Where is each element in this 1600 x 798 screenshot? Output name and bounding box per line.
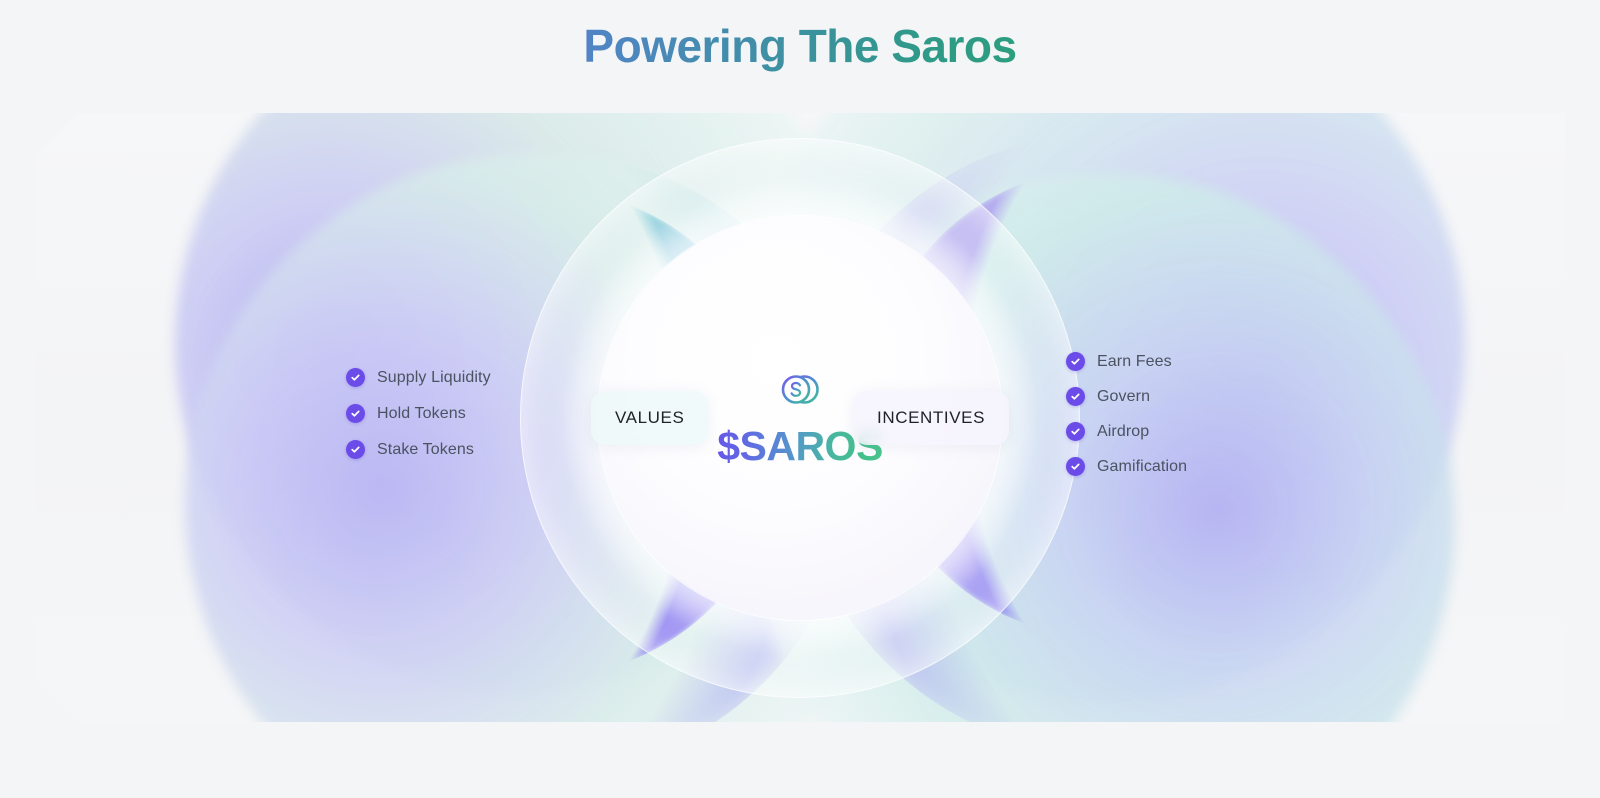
list-item-label: Stake Tokens: [377, 441, 474, 459]
diagram-panel: $SAROS VALUES INCENTIVES Supply Liquidit…: [35, 113, 1565, 722]
check-circle-icon: [1066, 457, 1085, 476]
list-item[interactable]: Airdrop: [1066, 422, 1187, 441]
list-item[interactable]: Earn Fees: [1066, 352, 1187, 371]
values-list: Supply Liquidity Hold Tokens Stake Token…: [346, 368, 491, 459]
list-item[interactable]: Gamification: [1066, 457, 1187, 476]
check-circle-icon: [346, 404, 365, 423]
check-circle-icon: [1066, 352, 1085, 371]
check-circle-icon: [346, 368, 365, 387]
incentives-badge[interactable]: INCENTIVES: [853, 391, 1009, 445]
coin-dollar-icon: [776, 366, 824, 414]
list-item[interactable]: Stake Tokens: [346, 440, 491, 459]
incentives-list: Earn Fees Govern Airdrop Gamification: [1066, 352, 1187, 476]
list-item[interactable]: Supply Liquidity: [346, 368, 491, 387]
list-item-label: Airdrop: [1097, 423, 1149, 441]
values-badge[interactable]: VALUES: [591, 391, 708, 445]
check-circle-icon: [1066, 422, 1085, 441]
list-item-label: Govern: [1097, 388, 1150, 406]
check-circle-icon: [1066, 387, 1085, 406]
list-item-label: Hold Tokens: [377, 405, 466, 423]
page-title: Powering The Saros: [0, 18, 1600, 76]
list-item-label: Gamification: [1097, 458, 1187, 476]
list-item-label: Supply Liquidity: [377, 369, 491, 387]
list-item-label: Earn Fees: [1097, 353, 1172, 371]
list-item[interactable]: Hold Tokens: [346, 404, 491, 423]
page-root: Powering The Saros: [0, 0, 1600, 798]
check-circle-icon: [346, 440, 365, 459]
list-item[interactable]: Govern: [1066, 387, 1187, 406]
